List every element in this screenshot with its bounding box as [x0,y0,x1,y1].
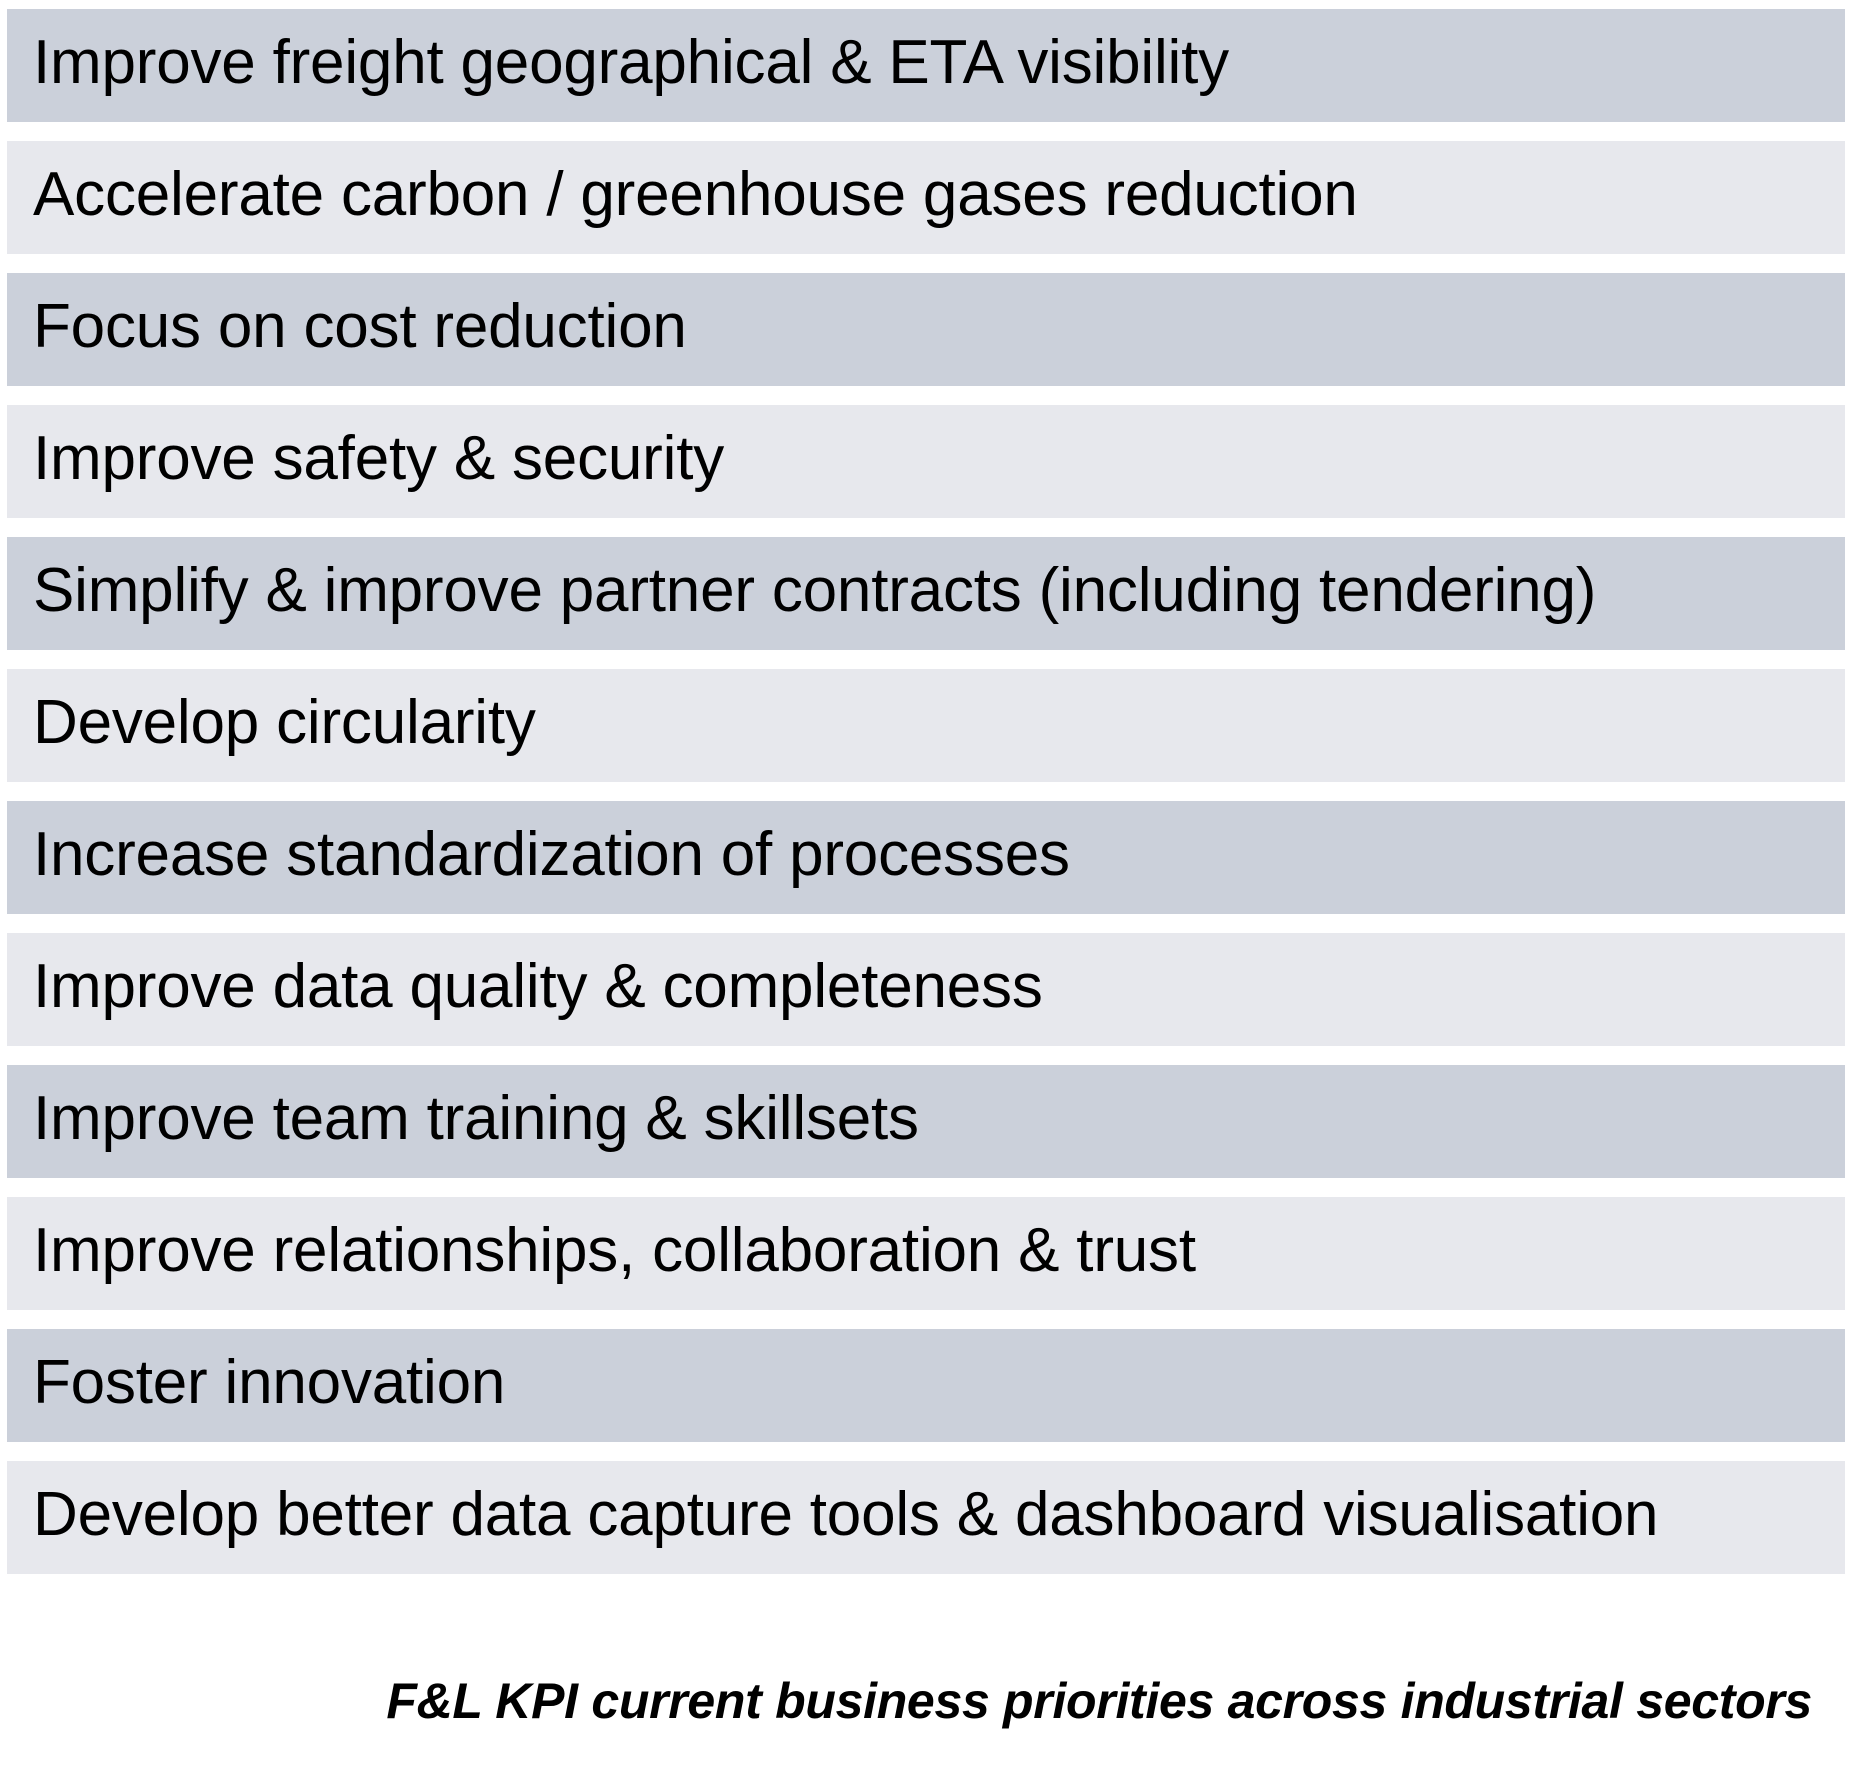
page-root: Improve freight geographical & ETA visib… [0,0,1860,1787]
table-row[interactable]: Improve team training & skillsets [7,1065,1845,1178]
table-row[interactable]: Improve safety & security [7,405,1845,518]
priority-list-table: Improve freight geographical & ETA visib… [7,9,1845,1574]
priority-label: Develop circularity [33,692,536,754]
priority-label: Improve team training & skillsets [33,1088,919,1150]
priority-label: Accelerate carbon / greenhouse gases red… [33,164,1358,226]
priority-label: Increase standardization of processes [33,824,1070,886]
priority-label: Improve relationships, collaboration & t… [33,1220,1196,1282]
priority-label: Improve data quality & completeness [33,956,1043,1018]
table-row[interactable]: Improve data quality & completeness [7,933,1845,1046]
priority-label: Foster innovation [33,1352,505,1414]
priority-label: Focus on cost reduction [33,296,687,358]
priority-label: Develop better data capture tools & dash… [33,1484,1658,1546]
table-row[interactable]: Foster innovation [7,1329,1845,1442]
priority-label: Improve safety & security [33,428,724,490]
table-row[interactable]: Improve relationships, collaboration & t… [7,1197,1845,1310]
table-row[interactable]: Simplify & improve partner contracts (in… [7,537,1845,650]
table-row[interactable]: Develop circularity [7,669,1845,782]
table-row[interactable]: Develop better data capture tools & dash… [7,1461,1845,1574]
priority-label: Simplify & improve partner contracts (in… [33,560,1596,622]
table-row[interactable]: Focus on cost reduction [7,273,1845,386]
priority-label: Improve freight geographical & ETA visib… [33,32,1229,94]
table-row[interactable]: Increase standardization of processes [7,801,1845,914]
figure-caption: F&L KPI current business priorities acro… [0,1672,1812,1730]
table-row[interactable]: Accelerate carbon / greenhouse gases red… [7,141,1845,254]
table-row[interactable]: Improve freight geographical & ETA visib… [7,9,1845,122]
